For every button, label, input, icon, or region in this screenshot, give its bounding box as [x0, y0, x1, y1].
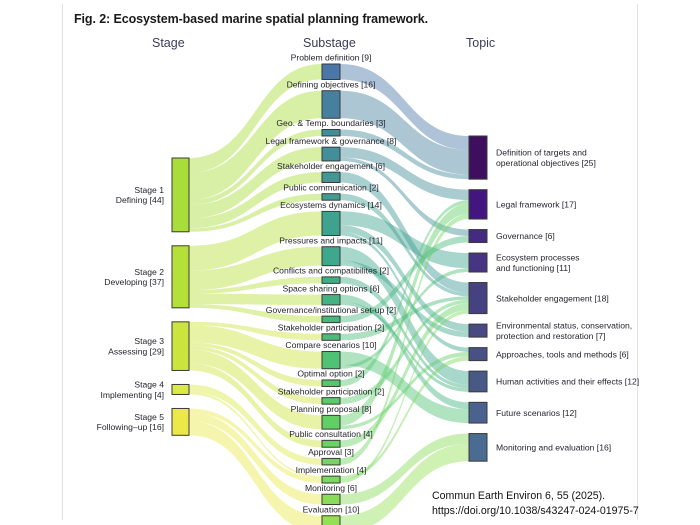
topic-node-t9[interactable]	[469, 402, 487, 423]
substage-node-label-b10: Space sharing options [6]	[283, 283, 380, 293]
substage-node-b1[interactable]	[322, 64, 340, 80]
citation-doi[interactable]: https://doi.org/10.1038/s43247-024-01975…	[432, 504, 639, 519]
substage-node-label-b8: Pressures and impacts [11]	[279, 235, 383, 245]
topic-node-label-t1: Definition of targets andoperational obj…	[496, 148, 596, 168]
topic-node-label-t3: Governance [6]	[496, 231, 555, 241]
stage-node-s5[interactable]	[172, 408, 189, 435]
substage-node-b4[interactable]	[322, 147, 340, 161]
links-stage-to-substage	[189, 64, 322, 525]
substage-node-b2[interactable]	[322, 91, 340, 119]
citation-block: Commun Earth Environ 6, 55 (2025). https…	[432, 489, 639, 519]
stage-node-s3[interactable]	[172, 322, 189, 371]
citation-journal: Commun Earth Environ 6, 55 (2025).	[432, 489, 639, 504]
topic-node-t3[interactable]	[469, 230, 487, 243]
topic-node-t7[interactable]	[469, 348, 487, 361]
substage-node-label-b17: Public consultation [4]	[289, 429, 373, 439]
substage-node-label-b12: Stakeholder participation [2]	[278, 323, 385, 333]
topic-node-label-t4: Ecosystem processesand functioning [11]	[496, 253, 580, 273]
topic-node-t10[interactable]	[469, 434, 487, 462]
substage-node-label-b14: Optimal option [2]	[297, 369, 364, 379]
substage-node-b7[interactable]	[322, 211, 340, 235]
stage-node-label-s1: Stage 1Defining [44]	[116, 185, 164, 205]
topic-node-label-t7: Approaches, tools and methods [6]	[496, 349, 629, 359]
substage-node-b21[interactable]	[322, 516, 340, 525]
topic-node-t4[interactable]	[469, 253, 487, 272]
sankey-diagram: Stage 1Defining [44]Stage 2Developing [3…	[0, 0, 700, 525]
topic-node-t2[interactable]	[469, 190, 487, 219]
substage-node-label-b4: Legal framework & governance [8]	[266, 136, 397, 146]
substage-node-b10[interactable]	[322, 295, 340, 305]
substage-node-label-b18: Approval [3]	[308, 447, 354, 457]
topic-node-label-t9: Future scenarios [12]	[496, 408, 577, 418]
substage-node-label-b15: Stakeholder participation [2]	[278, 386, 385, 396]
stage-node-s1[interactable]	[172, 158, 189, 232]
substage-node-b16[interactable]	[322, 415, 340, 429]
substage-node-b8[interactable]	[322, 247, 340, 266]
stage-node-label-s2: Stage 2Developing [37]	[104, 267, 164, 287]
substage-node-label-b7: Ecosystems dynamics [14]	[280, 200, 382, 210]
substage-node-b13[interactable]	[322, 352, 340, 369]
substage-node-label-b20: Monitoring [6]	[305, 483, 357, 493]
substage-node-label-b13: Compare scenarios [10]	[285, 340, 376, 350]
substage-node-label-b2: Defining objectives [16]	[287, 79, 376, 89]
topic-node-label-t5: Stakeholder engagement [18]	[496, 293, 609, 303]
substage-node-label-b21: Evaluation [10]	[303, 504, 360, 514]
substage-node-label-b3: Geo. & Temp. boundaries [3]	[276, 118, 385, 128]
substage-node-label-b1: Problem definition [9]	[291, 53, 372, 63]
topic-node-label-t8: Human activities and their effects [12]	[496, 377, 639, 387]
topic-node-label-t2: Legal framework [17]	[496, 200, 576, 210]
topic-node-t6[interactable]	[469, 324, 487, 337]
stage-node-s2[interactable]	[172, 246, 189, 308]
topic-node-label-t6: Environmental status, conservation,prote…	[496, 321, 632, 341]
stage-node-s4[interactable]	[172, 384, 189, 394]
topic-node-t5[interactable]	[469, 283, 487, 314]
substage-node-b20[interactable]	[322, 494, 340, 504]
substage-node-label-b19: Implementation [4]	[296, 465, 367, 475]
substage-node-label-b5: Stakeholder engagement [6]	[277, 161, 385, 171]
stage-node-label-s3: Stage 3Assessing [29]	[108, 336, 164, 356]
links-substage-to-topic	[340, 64, 469, 525]
substage-node-label-b6: Public communication [2]	[283, 182, 379, 192]
substage-node-label-b16: Planning proposal [8]	[291, 404, 372, 414]
stage-node-label-s4: Stage 4Implementing [4]	[100, 380, 164, 400]
substage-node-b5[interactable]	[322, 172, 340, 182]
topic-node-t8[interactable]	[469, 371, 487, 392]
stage-node-label-s5: Stage 5Following–up [16]	[97, 412, 165, 432]
substage-node-label-b9: Conflicts and compatibilites [2]	[273, 266, 389, 276]
sankey-link	[189, 294, 322, 305]
substage-node-label-b11: Governance/institutional set-up [2]	[266, 305, 396, 315]
topic-node-t1[interactable]	[469, 136, 487, 179]
topic-node-label-t10: Monitoring and evaluation [16]	[496, 443, 611, 453]
